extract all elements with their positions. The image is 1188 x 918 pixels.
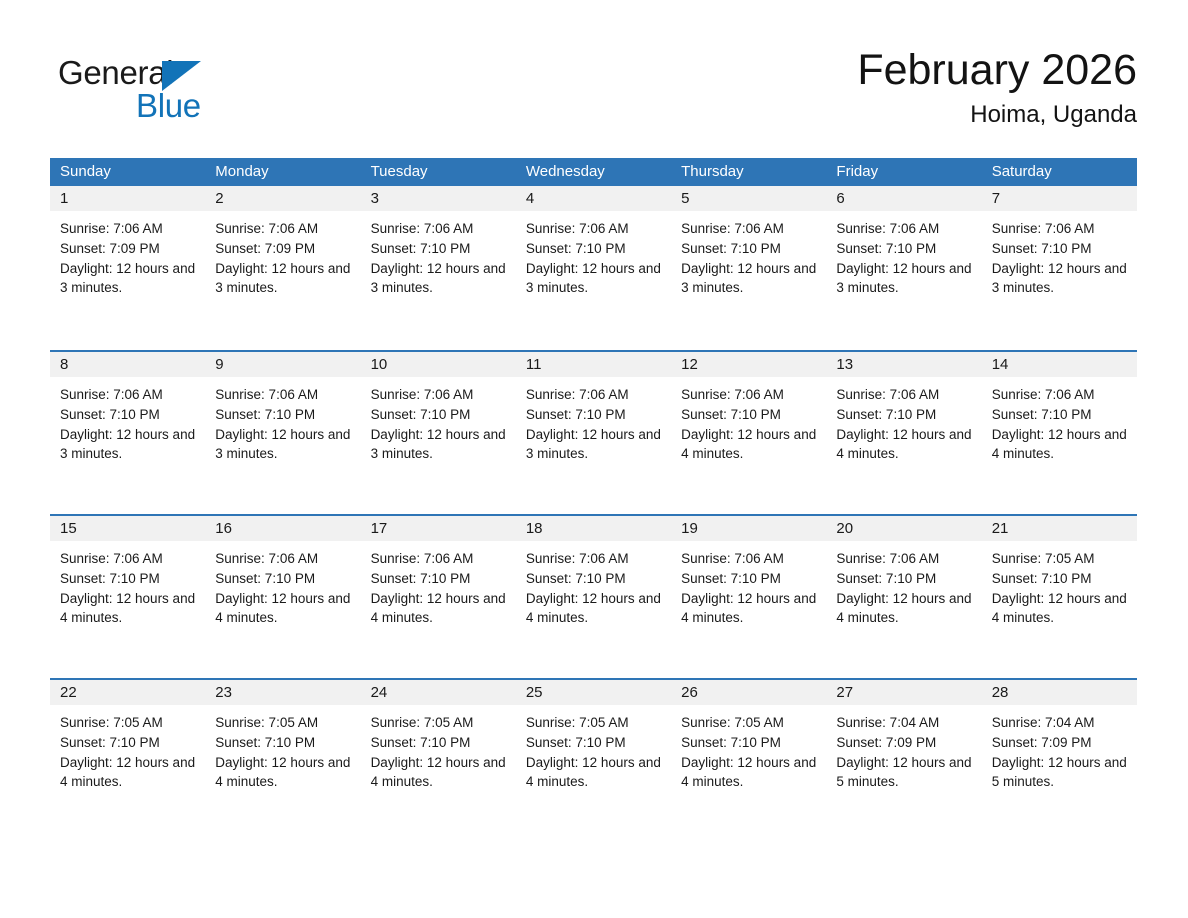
sunset-text: Sunset: 7:09 PM <box>992 733 1127 753</box>
sunrise-text: Sunrise: 7:06 AM <box>526 385 661 405</box>
day-details: Sunrise: 7:06 AM Sunset: 7:10 PM Dayligh… <box>205 541 360 628</box>
day-details: Sunrise: 7:05 AM Sunset: 7:10 PM Dayligh… <box>982 541 1137 628</box>
day-cell[interactable]: 4 Sunrise: 7:06 AM Sunset: 7:10 PM Dayli… <box>516 186 671 350</box>
day-number: 17 <box>361 516 516 541</box>
day-details: Sunrise: 7:06 AM Sunset: 7:10 PM Dayligh… <box>50 541 205 628</box>
daylight-text: Daylight: 12 hours and 4 minutes. <box>526 589 661 629</box>
general-blue-logo[interactable]: General Blue <box>58 54 278 134</box>
day-number: 16 <box>205 516 360 541</box>
day-number: 25 <box>516 680 671 705</box>
day-details: Sunrise: 7:06 AM Sunset: 7:10 PM Dayligh… <box>826 377 981 464</box>
day-number: 2 <box>205 186 360 211</box>
brand-word-blue: Blue <box>136 87 201 125</box>
day-details: Sunrise: 7:06 AM Sunset: 7:10 PM Dayligh… <box>205 377 360 464</box>
day-number: 20 <box>826 516 981 541</box>
daylight-text: Daylight: 12 hours and 3 minutes. <box>681 259 816 299</box>
sunset-text: Sunset: 7:10 PM <box>371 405 506 425</box>
week-row: 15 Sunrise: 7:06 AM Sunset: 7:10 PM Dayl… <box>50 514 1137 678</box>
day-details: Sunrise: 7:06 AM Sunset: 7:10 PM Dayligh… <box>826 211 981 298</box>
day-number: 15 <box>50 516 205 541</box>
day-details: Sunrise: 7:06 AM Sunset: 7:10 PM Dayligh… <box>516 541 671 628</box>
sunrise-text: Sunrise: 7:06 AM <box>371 219 506 239</box>
calendar-grid: Sunday Monday Tuesday Wednesday Thursday… <box>50 158 1137 842</box>
day-cell[interactable]: 25 Sunrise: 7:05 AM Sunset: 7:10 PM Dayl… <box>516 680 671 842</box>
sunset-text: Sunset: 7:10 PM <box>371 569 506 589</box>
sunrise-text: Sunrise: 7:05 AM <box>681 713 816 733</box>
day-number: 10 <box>361 352 516 377</box>
day-number: 4 <box>516 186 671 211</box>
sunrise-text: Sunrise: 7:06 AM <box>681 385 816 405</box>
sunset-text: Sunset: 7:10 PM <box>681 405 816 425</box>
daylight-text: Daylight: 12 hours and 4 minutes. <box>215 753 350 793</box>
week-row: 8 Sunrise: 7:06 AM Sunset: 7:10 PM Dayli… <box>50 350 1137 514</box>
daylight-text: Daylight: 12 hours and 4 minutes. <box>836 425 971 465</box>
daylight-text: Daylight: 12 hours and 4 minutes. <box>836 589 971 629</box>
sunset-text: Sunset: 7:10 PM <box>992 239 1127 259</box>
daylight-text: Daylight: 12 hours and 3 minutes. <box>371 425 506 465</box>
sunset-text: Sunset: 7:10 PM <box>60 405 195 425</box>
day-cell[interactable]: 21 Sunrise: 7:05 AM Sunset: 7:10 PM Dayl… <box>982 516 1137 678</box>
sunset-text: Sunset: 7:10 PM <box>215 733 350 753</box>
day-cell[interactable]: 3 Sunrise: 7:06 AM Sunset: 7:10 PM Dayli… <box>361 186 516 350</box>
day-details: Sunrise: 7:05 AM Sunset: 7:10 PM Dayligh… <box>205 705 360 792</box>
day-number: 13 <box>826 352 981 377</box>
day-details: Sunrise: 7:06 AM Sunset: 7:10 PM Dayligh… <box>516 377 671 464</box>
daylight-text: Daylight: 12 hours and 4 minutes. <box>681 753 816 793</box>
day-number: 5 <box>671 186 826 211</box>
daylight-text: Daylight: 12 hours and 5 minutes. <box>836 753 971 793</box>
sunrise-text: Sunrise: 7:06 AM <box>836 549 971 569</box>
day-number: 3 <box>361 186 516 211</box>
day-details: Sunrise: 7:06 AM Sunset: 7:10 PM Dayligh… <box>361 211 516 298</box>
sunrise-text: Sunrise: 7:06 AM <box>215 219 350 239</box>
day-number: 1 <box>50 186 205 211</box>
sunrise-text: Sunrise: 7:06 AM <box>215 385 350 405</box>
page-title: February 2026 <box>857 44 1137 96</box>
day-cell[interactable]: 22 Sunrise: 7:05 AM Sunset: 7:10 PM Dayl… <box>50 680 205 842</box>
day-cell[interactable]: 2 Sunrise: 7:06 AM Sunset: 7:09 PM Dayli… <box>205 186 360 350</box>
sunrise-text: Sunrise: 7:06 AM <box>60 385 195 405</box>
day-cell[interactable]: 27 Sunrise: 7:04 AM Sunset: 7:09 PM Dayl… <box>826 680 981 842</box>
sunset-text: Sunset: 7:10 PM <box>992 569 1127 589</box>
week-row: 22 Sunrise: 7:05 AM Sunset: 7:10 PM Dayl… <box>50 678 1137 842</box>
day-number: 9 <box>205 352 360 377</box>
day-number: 24 <box>361 680 516 705</box>
day-details: Sunrise: 7:06 AM Sunset: 7:10 PM Dayligh… <box>671 541 826 628</box>
daylight-text: Daylight: 12 hours and 3 minutes. <box>992 259 1127 299</box>
sunrise-text: Sunrise: 7:06 AM <box>836 219 971 239</box>
day-number: 21 <box>982 516 1137 541</box>
day-details: Sunrise: 7:06 AM Sunset: 7:10 PM Dayligh… <box>982 211 1137 298</box>
day-cell[interactable]: 5 Sunrise: 7:06 AM Sunset: 7:10 PM Dayli… <box>671 186 826 350</box>
daylight-text: Daylight: 12 hours and 3 minutes. <box>526 425 661 465</box>
sunset-text: Sunset: 7:10 PM <box>60 733 195 753</box>
day-cell[interactable]: 23 Sunrise: 7:05 AM Sunset: 7:10 PM Dayl… <box>205 680 360 842</box>
day-details: Sunrise: 7:06 AM Sunset: 7:09 PM Dayligh… <box>50 211 205 298</box>
sunrise-text: Sunrise: 7:06 AM <box>371 549 506 569</box>
day-cell[interactable]: 7 Sunrise: 7:06 AM Sunset: 7:10 PM Dayli… <box>982 186 1137 350</box>
daylight-text: Daylight: 12 hours and 5 minutes. <box>992 753 1127 793</box>
day-cell[interactable]: 20 Sunrise: 7:06 AM Sunset: 7:10 PM Dayl… <box>826 516 981 678</box>
day-number: 26 <box>671 680 826 705</box>
day-number: 23 <box>205 680 360 705</box>
daylight-text: Daylight: 12 hours and 4 minutes. <box>526 753 661 793</box>
daylight-text: Daylight: 12 hours and 4 minutes. <box>681 425 816 465</box>
sunset-text: Sunset: 7:10 PM <box>681 733 816 753</box>
sunrise-text: Sunrise: 7:04 AM <box>992 713 1127 733</box>
day-number: 22 <box>50 680 205 705</box>
day-details: Sunrise: 7:04 AM Sunset: 7:09 PM Dayligh… <box>826 705 981 792</box>
day-number: 14 <box>982 352 1137 377</box>
day-cell[interactable]: 9 Sunrise: 7:06 AM Sunset: 7:10 PM Dayli… <box>205 352 360 514</box>
day-details: Sunrise: 7:06 AM Sunset: 7:10 PM Dayligh… <box>361 377 516 464</box>
sunrise-text: Sunrise: 7:06 AM <box>992 219 1127 239</box>
sunrise-text: Sunrise: 7:06 AM <box>60 219 195 239</box>
sunrise-text: Sunrise: 7:06 AM <box>526 219 661 239</box>
day-cell[interactable]: 24 Sunrise: 7:05 AM Sunset: 7:10 PM Dayl… <box>361 680 516 842</box>
sunset-text: Sunset: 7:10 PM <box>992 405 1127 425</box>
day-details: Sunrise: 7:06 AM Sunset: 7:10 PM Dayligh… <box>982 377 1137 464</box>
day-number: 6 <box>826 186 981 211</box>
sunset-text: Sunset: 7:10 PM <box>526 239 661 259</box>
daylight-text: Daylight: 12 hours and 4 minutes. <box>215 589 350 629</box>
daylight-text: Daylight: 12 hours and 3 minutes. <box>526 259 661 299</box>
day-number: 28 <box>982 680 1137 705</box>
day-details: Sunrise: 7:05 AM Sunset: 7:10 PM Dayligh… <box>361 705 516 792</box>
day-details: Sunrise: 7:06 AM Sunset: 7:10 PM Dayligh… <box>671 377 826 464</box>
title-block: February 2026 Hoima, Uganda <box>857 44 1137 130</box>
day-details: Sunrise: 7:06 AM Sunset: 7:10 PM Dayligh… <box>361 541 516 628</box>
weekday-header-tuesday: Tuesday <box>361 158 516 186</box>
day-cell[interactable]: 10 Sunrise: 7:06 AM Sunset: 7:10 PM Dayl… <box>361 352 516 514</box>
sunset-text: Sunset: 7:09 PM <box>60 239 195 259</box>
sunset-text: Sunset: 7:10 PM <box>526 569 661 589</box>
day-details: Sunrise: 7:04 AM Sunset: 7:09 PM Dayligh… <box>982 705 1137 792</box>
day-cell[interactable]: 26 Sunrise: 7:05 AM Sunset: 7:10 PM Dayl… <box>671 680 826 842</box>
sunset-text: Sunset: 7:10 PM <box>215 569 350 589</box>
day-details: Sunrise: 7:06 AM Sunset: 7:10 PM Dayligh… <box>516 211 671 298</box>
calendar-page: General Blue February 2026 Hoima, Uganda… <box>0 0 1188 918</box>
page-header: General Blue February 2026 Hoima, Uganda <box>50 44 1137 148</box>
daylight-text: Daylight: 12 hours and 4 minutes. <box>371 589 506 629</box>
daylight-text: Daylight: 12 hours and 3 minutes. <box>60 425 195 465</box>
day-details: Sunrise: 7:06 AM Sunset: 7:10 PM Dayligh… <box>826 541 981 628</box>
week-row: 1 Sunrise: 7:06 AM Sunset: 7:09 PM Dayli… <box>50 186 1137 350</box>
daylight-text: Daylight: 12 hours and 3 minutes. <box>60 259 195 299</box>
day-cell[interactable]: 8 Sunrise: 7:06 AM Sunset: 7:10 PM Dayli… <box>50 352 205 514</box>
daylight-text: Daylight: 12 hours and 3 minutes. <box>215 425 350 465</box>
day-cell[interactable]: 6 Sunrise: 7:06 AM Sunset: 7:10 PM Dayli… <box>826 186 981 350</box>
day-cell[interactable]: 17 Sunrise: 7:06 AM Sunset: 7:10 PM Dayl… <box>361 516 516 678</box>
day-details: Sunrise: 7:06 AM Sunset: 7:10 PM Dayligh… <box>671 211 826 298</box>
day-details: Sunrise: 7:05 AM Sunset: 7:10 PM Dayligh… <box>516 705 671 792</box>
day-number: 19 <box>671 516 826 541</box>
day-cell[interactable]: 14 Sunrise: 7:06 AM Sunset: 7:10 PM Dayl… <box>982 352 1137 514</box>
sunset-text: Sunset: 7:10 PM <box>836 239 971 259</box>
sunset-text: Sunset: 7:10 PM <box>526 405 661 425</box>
day-cell[interactable]: 19 Sunrise: 7:06 AM Sunset: 7:10 PM Dayl… <box>671 516 826 678</box>
daylight-text: Daylight: 12 hours and 4 minutes. <box>60 589 195 629</box>
sunrise-text: Sunrise: 7:04 AM <box>836 713 971 733</box>
weekday-header-thursday: Thursday <box>671 158 826 186</box>
daylight-text: Daylight: 12 hours and 4 minutes. <box>992 589 1127 629</box>
weekday-header-row: Sunday Monday Tuesday Wednesday Thursday… <box>50 158 1137 186</box>
daylight-text: Daylight: 12 hours and 3 minutes. <box>371 259 506 299</box>
sunrise-text: Sunrise: 7:06 AM <box>836 385 971 405</box>
sunset-text: Sunset: 7:10 PM <box>371 733 506 753</box>
weekday-header-friday: Friday <box>826 158 981 186</box>
sunrise-text: Sunrise: 7:05 AM <box>526 713 661 733</box>
day-details: Sunrise: 7:05 AM Sunset: 7:10 PM Dayligh… <box>671 705 826 792</box>
sunrise-text: Sunrise: 7:05 AM <box>60 713 195 733</box>
sunrise-text: Sunrise: 7:06 AM <box>992 385 1127 405</box>
day-number: 8 <box>50 352 205 377</box>
daylight-text: Daylight: 12 hours and 3 minutes. <box>215 259 350 299</box>
sunset-text: Sunset: 7:10 PM <box>681 239 816 259</box>
day-details: Sunrise: 7:05 AM Sunset: 7:10 PM Dayligh… <box>50 705 205 792</box>
daylight-text: Daylight: 12 hours and 3 minutes. <box>836 259 971 299</box>
sunset-text: Sunset: 7:10 PM <box>60 569 195 589</box>
day-number: 18 <box>516 516 671 541</box>
sunrise-text: Sunrise: 7:06 AM <box>215 549 350 569</box>
day-cell[interactable]: 18 Sunrise: 7:06 AM Sunset: 7:10 PM Dayl… <box>516 516 671 678</box>
day-cell[interactable]: 28 Sunrise: 7:04 AM Sunset: 7:09 PM Dayl… <box>982 680 1137 842</box>
sunset-text: Sunset: 7:09 PM <box>836 733 971 753</box>
sunrise-text: Sunrise: 7:05 AM <box>992 549 1127 569</box>
weekday-header-sunday: Sunday <box>50 158 205 186</box>
day-cell[interactable]: 15 Sunrise: 7:06 AM Sunset: 7:10 PM Dayl… <box>50 516 205 678</box>
sunrise-text: Sunrise: 7:06 AM <box>681 549 816 569</box>
weekday-header-monday: Monday <box>205 158 360 186</box>
day-details: Sunrise: 7:06 AM Sunset: 7:10 PM Dayligh… <box>50 377 205 464</box>
sunrise-text: Sunrise: 7:06 AM <box>371 385 506 405</box>
daylight-text: Daylight: 12 hours and 4 minutes. <box>681 589 816 629</box>
day-number: 12 <box>671 352 826 377</box>
day-cell[interactable]: 12 Sunrise: 7:06 AM Sunset: 7:10 PM Dayl… <box>671 352 826 514</box>
sunrise-text: Sunrise: 7:06 AM <box>681 219 816 239</box>
daylight-text: Daylight: 12 hours and 4 minutes. <box>371 753 506 793</box>
day-number: 11 <box>516 352 671 377</box>
day-number: 7 <box>982 186 1137 211</box>
weekday-header-wednesday: Wednesday <box>516 158 671 186</box>
sunrise-text: Sunrise: 7:06 AM <box>60 549 195 569</box>
sunrise-text: Sunrise: 7:05 AM <box>371 713 506 733</box>
day-number: 27 <box>826 680 981 705</box>
day-cell[interactable]: 13 Sunrise: 7:06 AM Sunset: 7:10 PM Dayl… <box>826 352 981 514</box>
day-cell[interactable]: 11 Sunrise: 7:06 AM Sunset: 7:10 PM Dayl… <box>516 352 671 514</box>
sunset-text: Sunset: 7:10 PM <box>526 733 661 753</box>
sunrise-text: Sunrise: 7:05 AM <box>215 713 350 733</box>
sunset-text: Sunset: 7:10 PM <box>371 239 506 259</box>
sunset-text: Sunset: 7:10 PM <box>836 569 971 589</box>
day-cell[interactable]: 16 Sunrise: 7:06 AM Sunset: 7:10 PM Dayl… <box>205 516 360 678</box>
sunset-text: Sunset: 7:10 PM <box>215 405 350 425</box>
weekday-header-saturday: Saturday <box>982 158 1137 186</box>
sunrise-text: Sunrise: 7:06 AM <box>526 549 661 569</box>
sunset-text: Sunset: 7:10 PM <box>681 569 816 589</box>
page-subtitle-location: Hoima, Uganda <box>857 100 1137 130</box>
sunset-text: Sunset: 7:10 PM <box>836 405 971 425</box>
day-details: Sunrise: 7:06 AM Sunset: 7:09 PM Dayligh… <box>205 211 360 298</box>
day-cell[interactable]: 1 Sunrise: 7:06 AM Sunset: 7:09 PM Dayli… <box>50 186 205 350</box>
daylight-text: Daylight: 12 hours and 4 minutes. <box>992 425 1127 465</box>
daylight-text: Daylight: 12 hours and 4 minutes. <box>60 753 195 793</box>
sunset-text: Sunset: 7:09 PM <box>215 239 350 259</box>
